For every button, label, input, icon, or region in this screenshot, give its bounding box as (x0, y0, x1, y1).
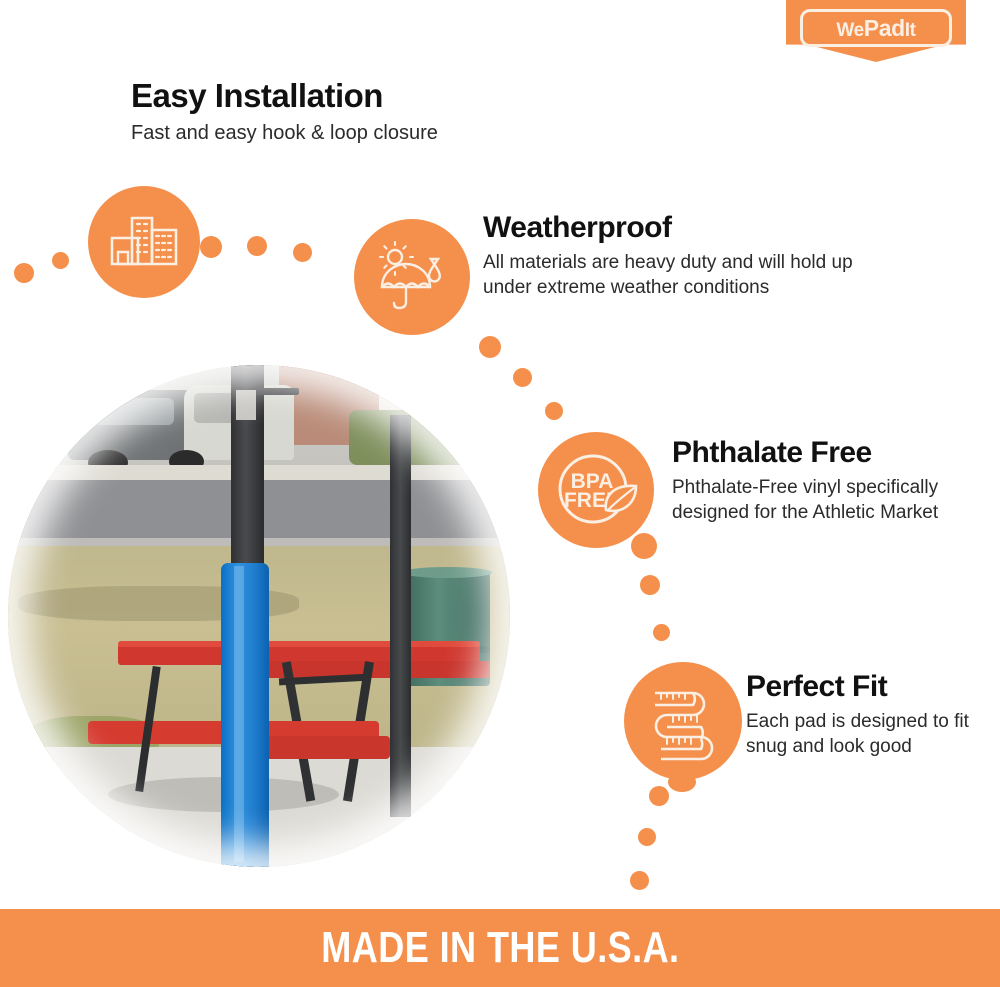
logo-text-we: We (836, 20, 863, 41)
trail-dot (640, 575, 660, 595)
photo-hedge (349, 410, 510, 465)
photo-pole-bracket (236, 390, 256, 420)
feature-perfect-fit: Perfect Fit Each pad is designed to fit … (746, 671, 986, 760)
umbrella-sun-rain-icon (354, 219, 470, 335)
photo-pole-arm (254, 388, 299, 395)
brand-logo[interactable]: WePadIt (786, 0, 966, 62)
made-in-usa-text: MADE IN THE U.S.A. (321, 923, 679, 973)
made-in-usa-banner: MADE IN THE U.S.A. (0, 909, 1000, 987)
trail-dot (649, 786, 669, 806)
product-photo (8, 365, 510, 867)
trail-dot (52, 252, 69, 269)
trail-dot (545, 402, 563, 420)
bpa-free-leaf-icon: BPA FREE (538, 432, 654, 548)
feature-title: Weatherproof (483, 212, 903, 244)
infographic-canvas: WePadIt Easy Installation Fast and easy … (0, 0, 1000, 987)
feature-description: Phthalate-Free vinyl specifically design… (672, 475, 972, 525)
building-icon (88, 186, 200, 298)
trail-dot (247, 236, 267, 256)
feature-easy-installation: Easy Installation Fast and easy hook & l… (131, 78, 561, 146)
trail-dot (638, 828, 656, 846)
photo-pole-right (390, 415, 411, 817)
feature-title: Phthalate Free (672, 437, 972, 469)
photo-bench-far (264, 661, 490, 678)
trail-dot (14, 263, 34, 283)
bubble-nub (668, 772, 696, 792)
photo-blue-pole-pad (221, 563, 269, 867)
logo-text: WePadIt (836, 17, 915, 40)
logo-border-frame: WePadIt (800, 9, 952, 47)
trail-dot (200, 236, 222, 258)
photo-table-top-edge (118, 641, 479, 647)
feature-description: Each pad is designed to fit snug and loo… (746, 709, 986, 759)
photo-scene (8, 365, 510, 867)
trail-dot (513, 368, 532, 387)
photo-bench-near-right (259, 736, 390, 758)
feature-phthalate-free: Phthalate Free Phthalate-Free vinyl spec… (672, 437, 972, 526)
photo-car-window (83, 398, 173, 426)
trail-dot (479, 336, 501, 358)
bubble-nub (631, 533, 657, 559)
photo-pad-highlight (234, 566, 244, 862)
trail-dot (293, 243, 312, 262)
feature-weatherproof: Weatherproof All materials are heavy dut… (483, 212, 903, 301)
trail-dot (653, 624, 670, 641)
feature-title: Easy Installation (131, 78, 561, 114)
trail-dot (630, 871, 649, 890)
feature-title: Perfect Fit (746, 671, 986, 703)
logo-text-pad: Pad (864, 15, 905, 41)
feature-description: All materials are heavy duty and will ho… (483, 250, 903, 300)
feature-description: Fast and easy hook & loop closure (131, 120, 561, 146)
measuring-tape-icon (624, 662, 742, 780)
logo-text-it: It (905, 20, 916, 41)
